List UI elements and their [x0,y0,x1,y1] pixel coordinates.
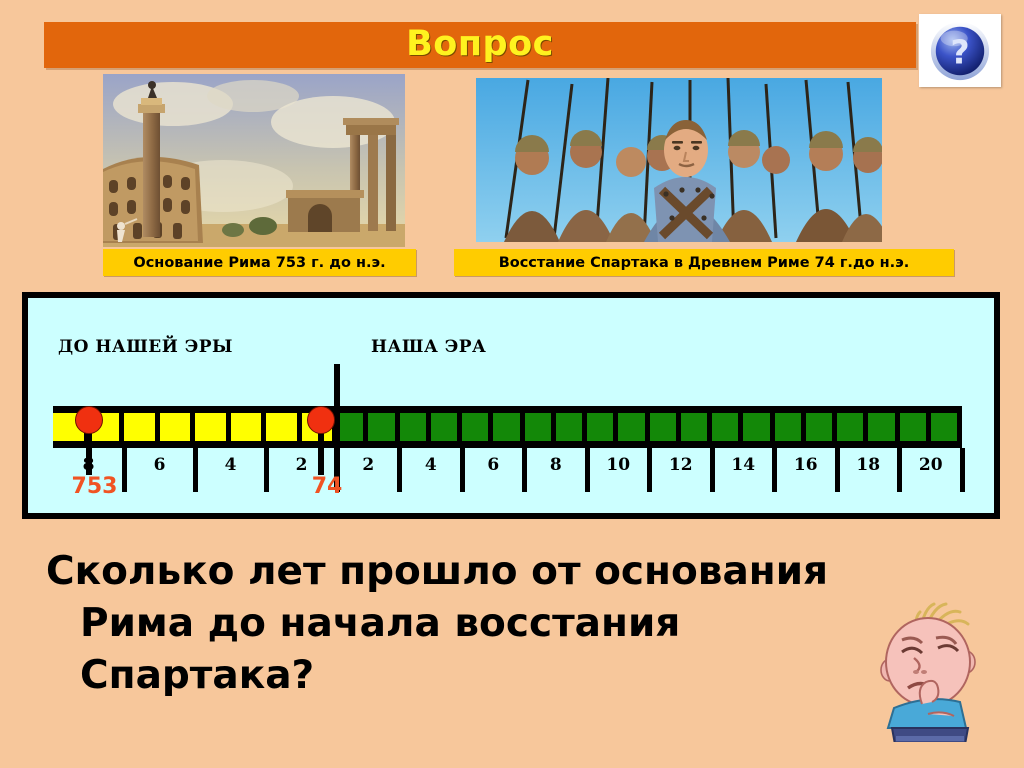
era-label-ad: НАША ЭРА [371,337,486,357]
question-line-1: Сколько лет прошло от основания [46,546,876,598]
ruler-tick-ad-18 [897,448,902,492]
ruler-cell-ad-11 [650,413,681,441]
ruler-cell-ad-3 [400,413,431,441]
era-divider-line [334,364,340,490]
ruler-top-rail [53,406,962,413]
ruler-cell-ad-17 [837,413,868,441]
ruler-tick-label-ad-20: 20 [911,455,951,475]
ruler-tick-ad-4 [460,448,465,492]
ruler-tick-ad-16 [835,448,840,492]
ruler-cell-ad-6 [493,413,524,441]
marker-753-label: 753 [65,474,125,499]
question-line-3: Спартака? [46,650,876,702]
ruler-cell-ad-7 [525,413,556,441]
ruler-tick-label-ad-8: 8 [536,455,576,475]
ruler-cell-bc-4 [160,413,196,441]
ruler-tick-label-ad-16: 16 [786,455,826,475]
ruler-cell-ad-14 [743,413,774,441]
ruler-tick-label-ad-6: 6 [473,455,513,475]
ruler-cell-ad-1 [337,413,368,441]
ruler-cell-bc-7 [266,413,302,441]
ruler-tick-bc-6 [193,448,198,492]
marker-74-label: 74 [297,474,357,499]
ruler-tick-ad-12 [710,448,715,492]
caption-roman-founding: Основание Рима 753 г. до н.э. [103,249,416,276]
ruler-tick-label-ad-10: 10 [598,455,638,475]
page-title: Вопрос [44,22,916,68]
ruler-cell-ad-4 [431,413,462,441]
ruler-tick-ad-20 [960,448,965,492]
ruler-tick-ad-14 [772,448,777,492]
marker-753-stem [86,427,92,475]
ruler-cell-ad-12 [681,413,712,441]
ruler-bottom-rail [53,441,962,448]
ruler-tick-ad-8 [585,448,590,492]
ruler-cell-bc-5 [195,413,231,441]
ruler-tick-bc-4 [264,448,269,492]
roman-ruins-painting [103,74,405,247]
ruler-tick-label-ad-14: 14 [723,455,763,475]
ruler-tick-label-ad-18: 18 [848,455,888,475]
puzzled-boy-cartoon [868,596,1004,742]
question-text: Сколько лет прошло от основания Рима до … [46,546,876,702]
ruler-cell-ad-18 [868,413,899,441]
ruler-cell-ad-19 [900,413,931,441]
ruler-cell-ad-8 [556,413,587,441]
ruler-tick-ad-10 [647,448,652,492]
caption-spartacus-revolt: Восстание Спартака в Древнем Риме 74 г.д… [454,249,954,276]
ruler-cell-ad-10 [618,413,649,441]
ruler-tick-ad-2 [397,448,402,492]
era-label-bc: ДО НАШЕЙ ЭРЫ [58,337,233,357]
ruler-tick-label-bc-2: 2 [282,455,322,475]
ruler-tick-label-ad-2: 2 [348,455,388,475]
marker-74-stem [318,427,324,475]
ruler-cell-ad-9 [587,413,618,441]
ruler-cell-ad-20 [931,413,962,441]
slide-root: Вопрос ? [0,0,1024,768]
marker-753-dot[interactable] [75,406,103,434]
ruler-cell-ad-2 [368,413,399,441]
svg-text:?: ? [950,32,969,71]
ruler-tick-label-bc-6: 6 [140,455,180,475]
ruler-cell-bc-6 [231,413,267,441]
ruler-tick-label-ad-4: 4 [411,455,451,475]
ruler-tick-label-ad-12: 12 [661,455,701,475]
marker-74-dot[interactable] [307,406,335,434]
ruler-cell-ad-16 [806,413,837,441]
ruler-cell-ad-5 [462,413,493,441]
ruler-tick-ad-6 [522,448,527,492]
ruler-cell-ad-13 [712,413,743,441]
ruler-tick-label-bc-4: 4 [211,455,251,475]
ruler-cell-bc-3 [124,413,160,441]
ruler-cell-ad-15 [775,413,806,441]
question-mark-icon[interactable]: ? [919,14,1001,87]
spartacus-film-still [476,78,882,242]
question-line-2: Рима до начала восстания [46,598,876,650]
